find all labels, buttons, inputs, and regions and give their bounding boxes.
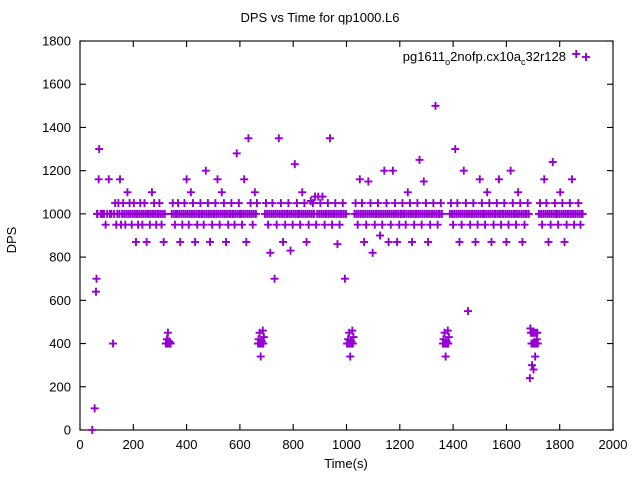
y-tick-label-6: 1200 (42, 163, 71, 178)
y-tick-label-2: 400 (49, 336, 71, 351)
x-axis-title: Time(s) (324, 456, 368, 471)
x-tick-label-5: 1000 (332, 437, 361, 452)
x-tick-label-1: 200 (122, 437, 144, 452)
x-tick-label-4: 800 (282, 437, 304, 452)
scatter-plot-svg: 020040060080010001200140016001800 020040… (0, 0, 640, 480)
legend-text-part: 2nofp.cx10a (450, 49, 522, 64)
y-tick-label-4: 800 (49, 250, 71, 265)
x-tick-label-8: 1600 (492, 437, 521, 452)
y-tick-label-9: 1800 (42, 34, 71, 49)
y-tick-label-0: 0 (64, 423, 71, 438)
x-tick-label-9: 1800 (545, 437, 574, 452)
y-tick-label-3: 600 (49, 293, 71, 308)
x-tick-label-10: 2000 (599, 437, 628, 452)
x-tick-label-2: 400 (176, 437, 198, 452)
legend-text-part: pg1611 (403, 49, 445, 64)
legend-text-part: 32r128 (526, 49, 566, 64)
chart-container: 020040060080010001200140016001800 020040… (0, 0, 640, 480)
y-tick-label-8: 1600 (42, 77, 71, 92)
y-axis-title: DPS (4, 226, 19, 253)
y-tick-label-1: 200 (49, 379, 71, 394)
y-tick-label-5: 1000 (42, 206, 71, 221)
x-tick-label-0: 0 (76, 437, 83, 452)
page-title: DPS vs Time for qp1000.L6 (241, 10, 400, 25)
y-tick-label-7: 1400 (42, 120, 71, 135)
x-tick-label-6: 1200 (385, 437, 414, 452)
x-tick-label-7: 1400 (439, 437, 468, 452)
x-tick-label-3: 600 (229, 437, 251, 452)
